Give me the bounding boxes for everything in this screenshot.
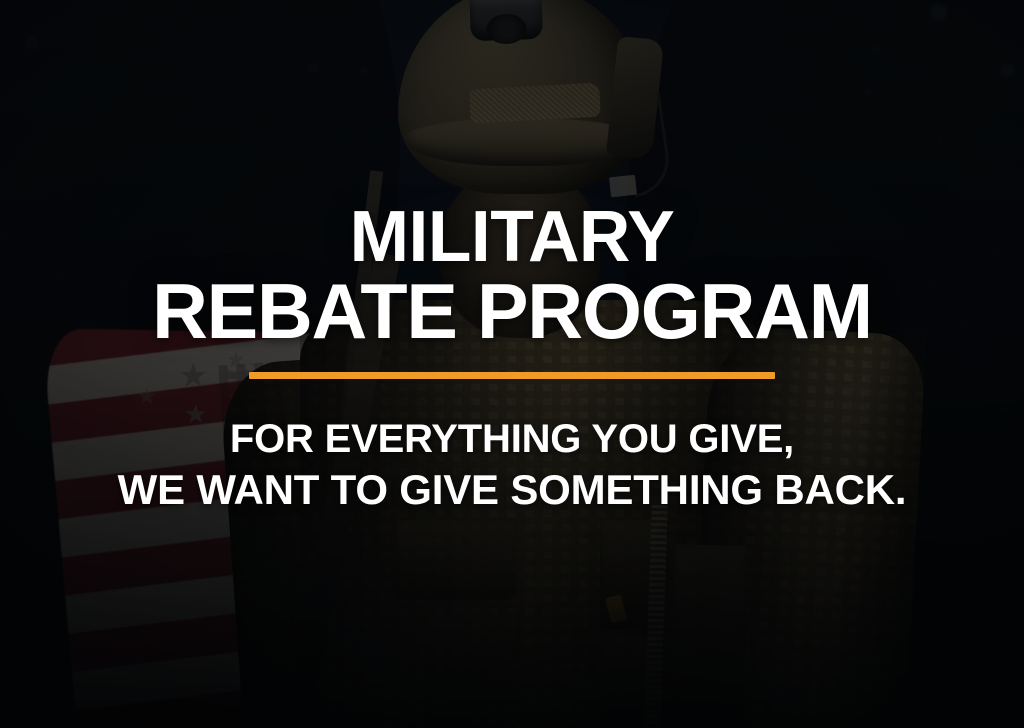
headline-line-2: REBATE PROGRAM [5,273,1019,350]
subheadline-line-1: FOR EVERYTHING YOU GIVE, [0,415,1024,464]
orange-divider [249,372,775,379]
banner-content: MILITARY REBATE PROGRAM FOR EVERYTHING Y… [0,0,1024,728]
banner-subtitle: FOR EVERYTHING YOU GIVE, WE WANT TO GIVE… [0,415,1024,515]
military-rebate-banner: MILITARY REBATE PROGRAM FOR EVERYTHING Y… [0,0,1024,728]
page-title: MILITARY REBATE PROGRAM [5,202,1019,350]
subheadline-line-2: WE WANT TO GIVE SOMETHING BACK. [0,464,1024,515]
headline-line-1: MILITARY [5,202,1019,273]
